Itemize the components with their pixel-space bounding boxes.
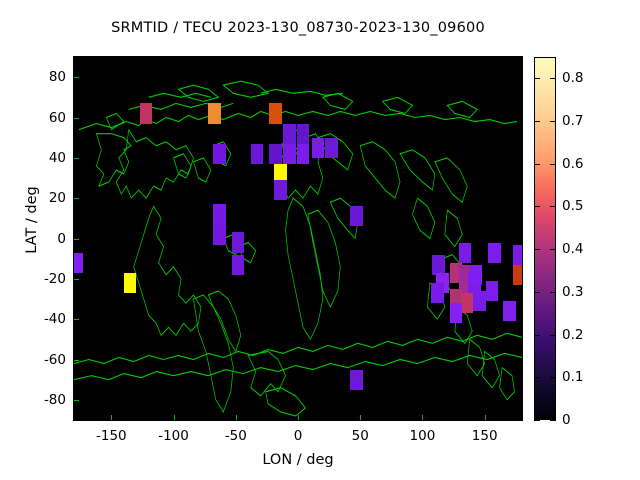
x-tick-label: 50	[325, 428, 395, 444]
y-tick-label: -40	[20, 311, 66, 327]
colorbar-tick-mark	[534, 335, 540, 336]
data-cell	[232, 255, 244, 275]
data-cell	[312, 138, 324, 158]
x-tick-label: 150	[450, 428, 520, 444]
colorbar	[534, 57, 556, 420]
colorbar-tick-mark	[534, 249, 540, 250]
data-cell	[450, 303, 462, 323]
y-tick-mark	[74, 360, 79, 361]
colorbar-tick-label: 0.5	[562, 198, 583, 214]
data-cell	[503, 301, 515, 321]
y-tick-mark	[74, 198, 79, 199]
map-plot-area	[74, 57, 522, 420]
data-cell	[274, 180, 286, 200]
colorbar-tick-mark	[550, 249, 556, 250]
x-tick-mark	[298, 415, 299, 420]
x-axis-label: LON / deg	[74, 452, 522, 468]
y-tick-mark	[74, 77, 79, 78]
data-cell	[140, 103, 152, 123]
data-cell	[297, 144, 309, 164]
y-tick-mark	[74, 118, 79, 119]
y-axis-label: LAT / deg	[24, 160, 40, 280]
y-tick-label: -60	[20, 352, 66, 368]
data-cell	[269, 103, 281, 123]
chart-title: SRMTID / TECU 2023-130_08730-2023-130_09…	[0, 20, 596, 36]
colorbar-tick-mark	[534, 164, 540, 165]
data-cell	[283, 124, 295, 144]
x-tick-mark	[360, 415, 361, 420]
colorbar-tick-mark	[534, 377, 540, 378]
data-cell	[232, 232, 244, 252]
colorbar-tick-label: 0.3	[562, 284, 583, 300]
colorbar-tick-mark	[550, 420, 556, 421]
colorbar-tick-label: 0.7	[562, 113, 583, 129]
figure-canvas: SRMTID / TECU 2023-130_08730-2023-130_09…	[0, 0, 640, 480]
data-cell	[461, 293, 473, 313]
x-tick-mark	[485, 415, 486, 420]
x-tick-mark	[111, 415, 112, 420]
y-tick-label: 80	[20, 69, 66, 85]
y-tick-mark	[74, 279, 79, 280]
data-cell	[486, 281, 498, 301]
plot-frame-bottom	[73, 420, 523, 421]
x-tick-label: -150	[76, 428, 146, 444]
data-cell	[124, 273, 136, 293]
colorbar-tick-mark	[534, 292, 540, 293]
colorbar-tick-mark	[550, 164, 556, 165]
colorbar-tick-label: 0.1	[562, 369, 583, 385]
colorbar-tick-mark	[550, 121, 556, 122]
colorbar-tick-mark	[550, 78, 556, 79]
data-cell	[513, 265, 522, 285]
colorbar-tick-mark	[550, 206, 556, 207]
y-tick-label: -80	[20, 392, 66, 408]
y-tick-label: 60	[20, 110, 66, 126]
data-cell	[208, 103, 220, 123]
x-tick-label: -50	[201, 428, 271, 444]
data-cell	[488, 243, 500, 263]
colorbar-tick-mark	[550, 377, 556, 378]
x-tick-label: 100	[387, 428, 457, 444]
colorbar-tick-label: 0.8	[562, 70, 583, 86]
colorbar-tick-mark	[550, 335, 556, 336]
data-cell	[473, 291, 485, 311]
colorbar-tick-mark	[534, 206, 540, 207]
colorbar-tick-label: 0.4	[562, 241, 583, 257]
data-cell	[213, 204, 225, 224]
data-cell	[213, 144, 225, 164]
x-tick-mark	[236, 415, 237, 420]
y-tick-mark	[74, 319, 79, 320]
data-cell	[251, 144, 263, 164]
y-tick-mark	[74, 158, 79, 159]
data-cell	[350, 370, 362, 390]
data-cell	[459, 243, 471, 263]
x-tick-mark	[174, 415, 175, 420]
data-cell	[513, 245, 522, 265]
plot-frame-right	[522, 56, 523, 421]
colorbar-tick-mark	[550, 292, 556, 293]
plot-frame-top	[73, 56, 523, 57]
data-cell	[325, 138, 337, 158]
colorbar-tick-mark	[534, 78, 540, 79]
x-tick-mark	[422, 415, 423, 420]
y-tick-mark	[74, 400, 79, 401]
data-cell	[269, 144, 281, 164]
data-cell	[74, 253, 83, 273]
data-cell	[432, 255, 444, 275]
data-cell	[350, 206, 362, 226]
data-cell	[470, 265, 482, 285]
x-tick-label: -100	[139, 428, 209, 444]
data-cell	[297, 124, 309, 144]
y-tick-mark	[74, 239, 79, 240]
colorbar-tick-mark	[534, 121, 540, 122]
x-tick-label: 0	[263, 428, 333, 444]
colorbar-tick-label: 0	[562, 412, 571, 428]
data-cell	[213, 224, 225, 244]
data-cell	[283, 144, 295, 164]
data-cell	[431, 283, 443, 303]
colorbar-tick-mark	[534, 420, 540, 421]
colorbar-tick-label: 0.6	[562, 156, 583, 172]
colorbar-tick-label: 0.2	[562, 327, 583, 343]
